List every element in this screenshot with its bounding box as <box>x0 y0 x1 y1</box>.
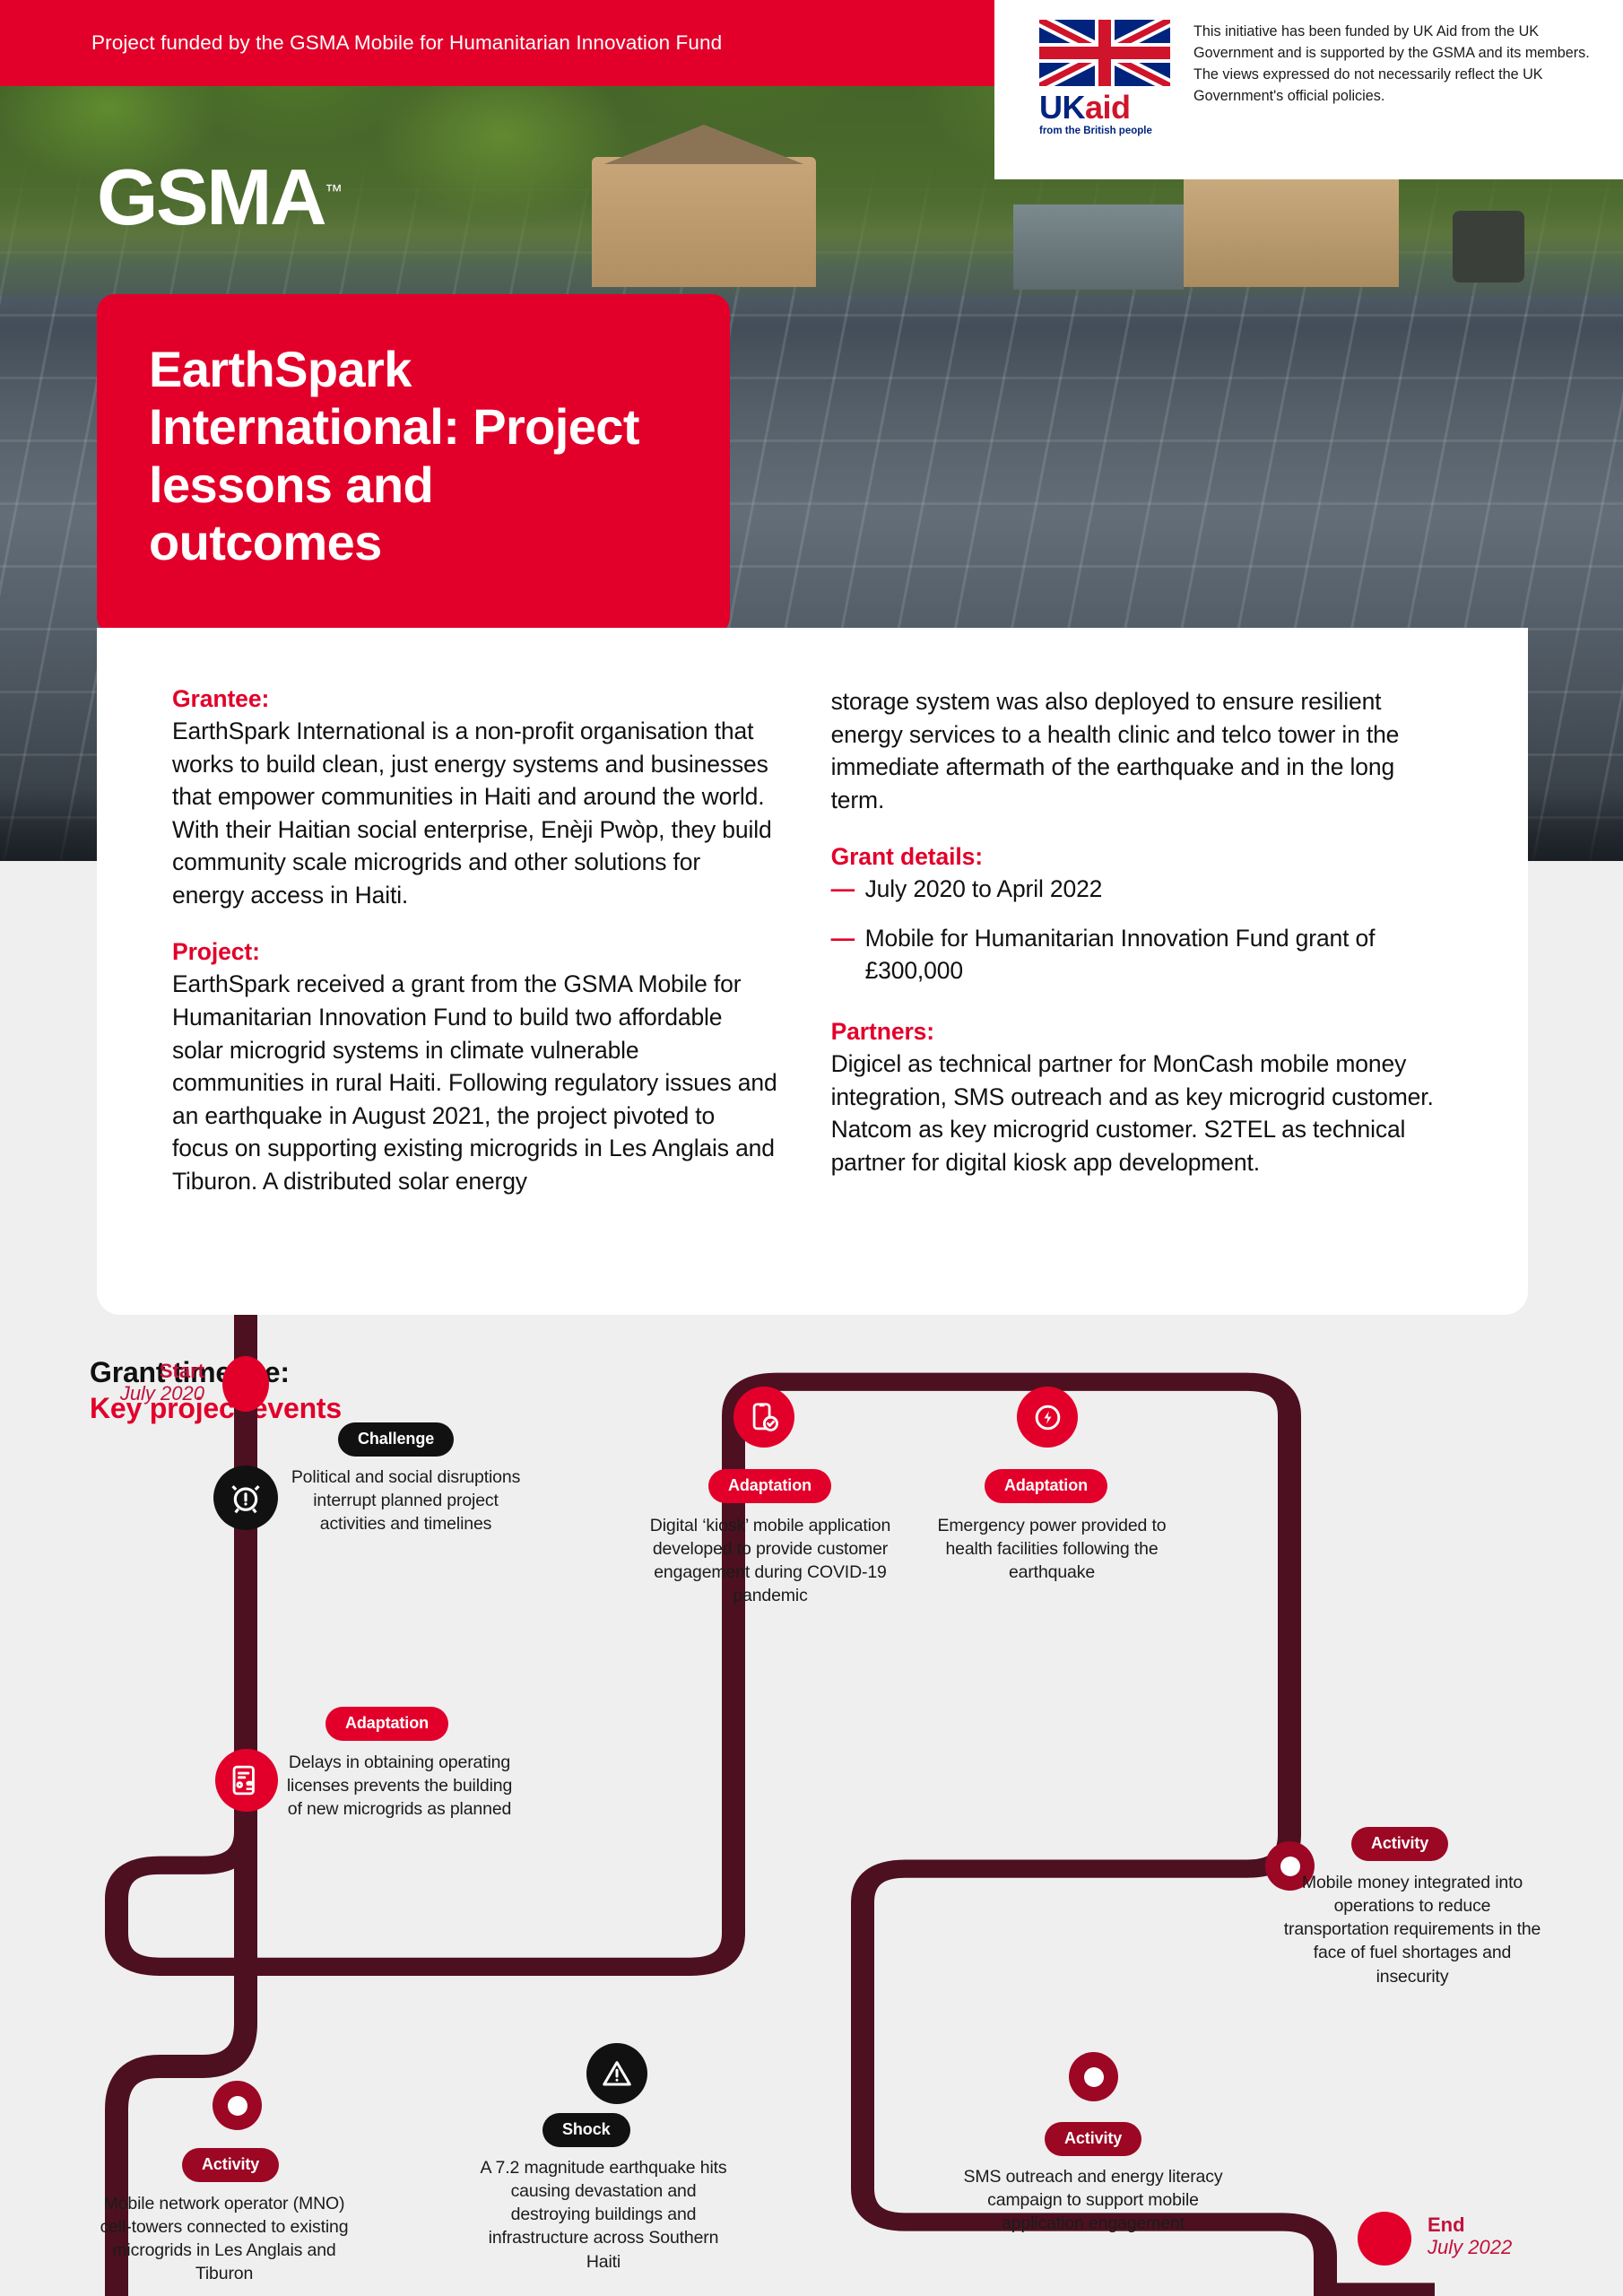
pill-adaptation-license: Adaptation <box>325 1707 448 1741</box>
grantee-text: EarthSpark International is a non-profit… <box>172 715 777 911</box>
union-jack-flag-icon <box>1039 20 1170 86</box>
start-label: Start July 2020 <box>70 1360 204 1406</box>
end-date-text: July 2022 <box>1428 2236 1512 2259</box>
ukaid-tagline: from the British people <box>1039 126 1170 136</box>
note-adaptation-power: Emergency power provided to health facil… <box>933 1514 1171 1584</box>
adaptation-license-icon <box>215 1749 278 1812</box>
trademark-symbol: ™ <box>325 182 343 202</box>
gsma-wordmark: GSMA <box>97 152 325 241</box>
village-roof <box>1013 204 1184 290</box>
adaptation-kiosk-icon <box>733 1387 794 1448</box>
shock-icon-wrap <box>586 2043 647 2104</box>
adaptation-power-icon <box>1017 1387 1078 1448</box>
note-activity-sms: SMS outreach and energy literacy campaig… <box>951 2165 1235 2235</box>
ukaid-logo: UKaid from the British people <box>1039 20 1170 136</box>
summary-card: Grantee: EarthSpark International is a n… <box>97 628 1528 1315</box>
activity-mno-dot-icon <box>213 2081 262 2130</box>
ukaid-word-aid: aid <box>1085 89 1131 126</box>
alarm-clock-alert-icon <box>228 1480 264 1516</box>
grant-details-heading: Grant details: <box>831 843 1453 871</box>
note-adaptation-license: Delays in obtaining operating licenses p… <box>281 1751 518 1821</box>
note-activity-mobilemoney: Mobile money integrated into operations … <box>1280 1871 1544 1988</box>
note-activity-mno: Mobile network operator (MNO) cell-tower… <box>94 2192 354 2286</box>
ukaid-word-uk: UK <box>1039 89 1085 126</box>
pill-activity-mobilemoney: Activity <box>1351 1827 1448 1861</box>
ukaid-disclaimer: This initiative has been funded by UK Ai… <box>1193 20 1598 108</box>
pill-shock: Shock <box>542 2113 630 2147</box>
page-title: EarthSpark International: Project lesson… <box>149 341 678 572</box>
summary-right-column: storage system was also deployed to ensu… <box>831 685 1453 1315</box>
start-label-text: Start <box>70 1360 204 1382</box>
list-item: Mobile for Humanitarian Innovation Fund … <box>831 922 1453 987</box>
gsma-logo: GSMA™ <box>97 158 343 237</box>
note-challenge: Political and social disruptions interru… <box>287 1465 525 1535</box>
ukaid-wordmark: UKaid <box>1039 91 1170 124</box>
pill-adaptation-kiosk: Adaptation <box>708 1469 831 1503</box>
project-heading: Project: <box>172 938 777 966</box>
mobile-app-check-icon <box>748 1401 781 1434</box>
grant-details-list: July 2020 to April 2022 Mobile for Human… <box>831 873 1453 987</box>
water-tank <box>1453 211 1524 283</box>
funding-banner: Project funded by the GSMA Mobile for Hu… <box>0 0 994 86</box>
start-marker <box>222 1356 269 1412</box>
grant-timeline: Grant timeline: Key project events Start… <box>0 1315 1623 2296</box>
challenge-icon-wrap <box>213 1465 278 1530</box>
village-house-right <box>1184 179 1399 287</box>
project-text: EarthSpark received a grant from the GSM… <box>172 968 777 1197</box>
partners-heading: Partners: <box>831 1018 1453 1046</box>
note-adaptation-kiosk: Digital ‘kiosk’ mobile application devel… <box>640 1514 900 1608</box>
start-date-text: July 2020 <box>70 1382 204 1405</box>
activity-sms-dot <box>1069 2052 1118 2101</box>
village-house <box>592 157 816 287</box>
end-marker <box>1358 2212 1411 2266</box>
ukaid-panel: UKaid from the British people This initi… <box>994 0 1623 179</box>
partners-text: Digicel as technical partner for MonCash… <box>831 1048 1453 1178</box>
end-label-text: End <box>1428 2213 1512 2236</box>
grantee-heading: Grantee: <box>172 685 777 713</box>
power-bolt-icon <box>1031 1401 1064 1434</box>
summary-left-column: Grantee: EarthSpark International is a n… <box>172 685 777 1315</box>
pill-challenge: Challenge <box>338 1422 454 1457</box>
note-shock: A 7.2 magnitude earthquake hits causing … <box>473 2156 733 2274</box>
warning-triangle-icon <box>600 2057 634 2091</box>
funding-banner-text: Project funded by the GSMA Mobile for Hu… <box>91 31 722 55</box>
end-label: End July 2022 <box>1428 2213 1512 2260</box>
pill-adaptation-power: Adaptation <box>985 1469 1107 1503</box>
title-card: EarthSpark International: Project lesson… <box>97 294 730 635</box>
pill-activity-mno: Activity <box>182 2148 279 2182</box>
license-document-stamp-icon <box>230 1763 264 1797</box>
project-text-continued: storage system was also deployed to ensu… <box>831 685 1453 816</box>
list-item: July 2020 to April 2022 <box>831 873 1453 906</box>
pill-activity-sms: Activity <box>1045 2122 1141 2156</box>
